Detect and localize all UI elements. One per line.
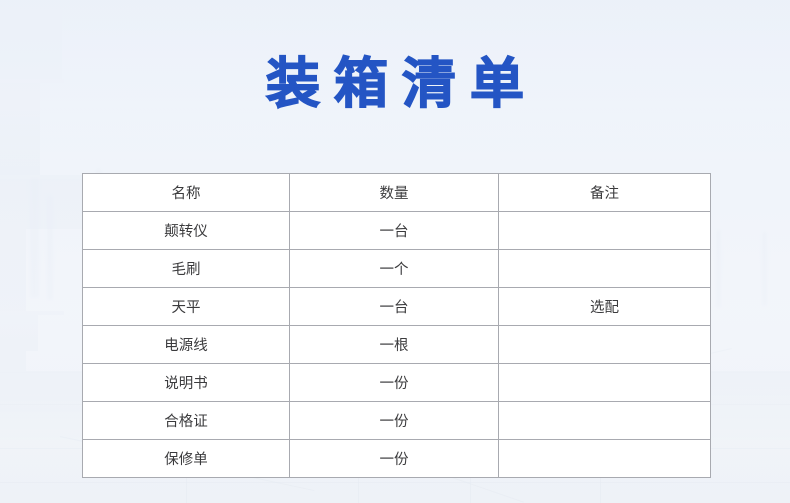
- cell-remark: [499, 212, 711, 250]
- cell-name: 说明书: [83, 364, 290, 402]
- cell-name: 天平: [83, 288, 290, 326]
- cell-name: 颠转仪: [83, 212, 290, 250]
- cell-qty: 一根: [290, 326, 499, 364]
- cell-remark: [499, 250, 711, 288]
- cell-qty: 一份: [290, 402, 499, 440]
- bg-structure-tank-right: [0, 229, 26, 311]
- ground-seam: [0, 482, 790, 483]
- bg-structure-gantry-bar: [0, 0, 54, 5]
- cell-qty: 一台: [290, 212, 499, 250]
- cell-qty: 一份: [290, 364, 499, 402]
- packing-list-table: 名称 数量 备注 颠转仪 一台 毛刷 一个 天平 一台: [82, 173, 711, 478]
- table-row: 毛刷 一个: [83, 250, 711, 288]
- bg-structure-frame-right-2: [762, 232, 767, 306]
- cell-name: 电源线: [83, 326, 290, 364]
- cell-qty: 一个: [290, 250, 499, 288]
- page-title: 装箱清单: [0, 52, 790, 116]
- table-row: 合格证 一份: [83, 402, 711, 440]
- packing-list-table-container: 名称 数量 备注 颠转仪 一台 毛刷 一个 天平 一台: [82, 173, 710, 478]
- cell-remark: [499, 440, 711, 478]
- cell-name: 毛刷: [83, 250, 290, 288]
- bg-structure-sign-left: [0, 351, 26, 379]
- bg-structure-frame-right: [716, 230, 721, 308]
- table-header-row: 名称 数量 备注: [83, 174, 711, 212]
- cell-name: 合格证: [83, 402, 290, 440]
- table-row: 说明书 一份: [83, 364, 711, 402]
- column-header-remark: 备注: [499, 174, 711, 212]
- table-row: 保修单 一份: [83, 440, 711, 478]
- table-row: 颠转仪 一台: [83, 212, 711, 250]
- cell-remark: 选配: [499, 288, 711, 326]
- cell-qty: 一份: [290, 440, 499, 478]
- bg-structure-chimney-left: [47, 196, 53, 300]
- packing-list-page: 装箱清单 名称 数量 备注 颠转仪 一台 毛刷: [0, 0, 790, 503]
- bg-structure-beam-right: [0, 311, 64, 315]
- cell-remark: [499, 402, 711, 440]
- column-header-qty: 数量: [290, 174, 499, 212]
- cell-remark: [499, 326, 711, 364]
- cell-name: 保修单: [83, 440, 290, 478]
- table-row: 天平 一台 选配: [83, 288, 711, 326]
- bg-structure-lowblock-right: [0, 379, 90, 417]
- bg-structure-sign-right: [0, 315, 38, 351]
- column-header-name: 名称: [83, 174, 290, 212]
- bg-structure-tower-left: [30, 178, 39, 298]
- cell-remark: [499, 364, 711, 402]
- cell-qty: 一台: [290, 288, 499, 326]
- table-row: 电源线 一根: [83, 326, 711, 364]
